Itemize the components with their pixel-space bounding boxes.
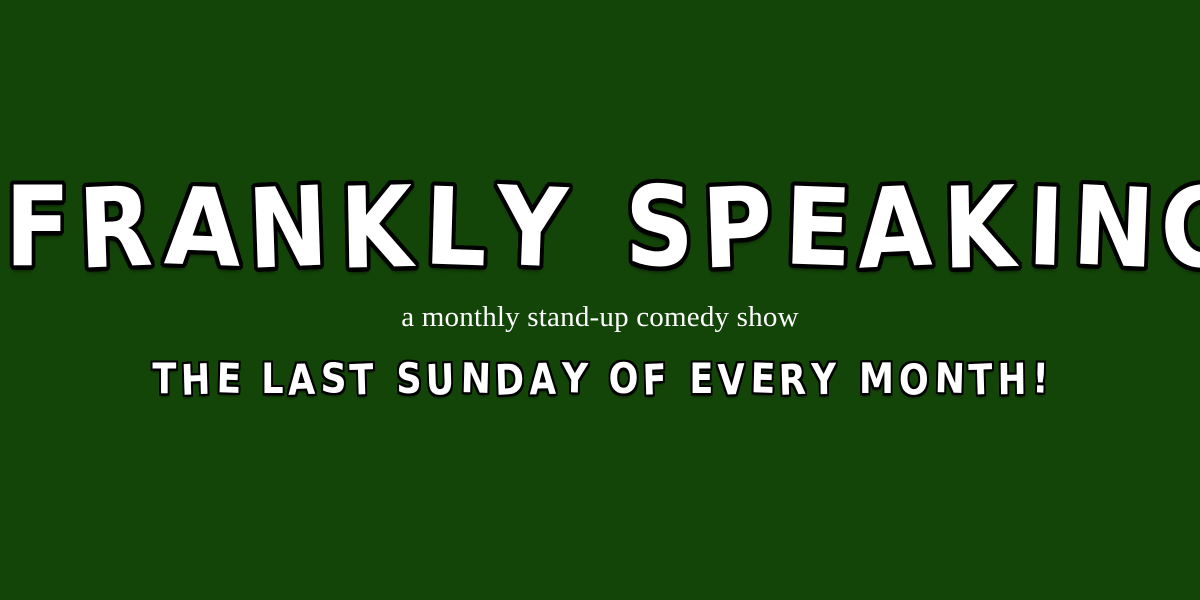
title-letter: R bbox=[77, 171, 154, 284]
tagline-letter: E bbox=[689, 356, 713, 404]
tagline-letter: A bbox=[529, 356, 556, 405]
tagline-letter: Y bbox=[811, 356, 837, 405]
tagline-word-4: OF bbox=[606, 360, 670, 404]
tagline-letter: A bbox=[287, 357, 316, 406]
title-letter: I bbox=[1026, 173, 1066, 281]
tagline-letter: T bbox=[153, 356, 177, 404]
tagline-letter: Y bbox=[561, 356, 588, 403]
title-word-2: SPEAKING bbox=[620, 178, 1200, 282]
tagline-letter: D bbox=[494, 357, 525, 406]
title-letter: Y bbox=[494, 171, 569, 283]
tagline-letter: N bbox=[460, 356, 491, 403]
tagline-letter: H bbox=[180, 357, 211, 406]
title-letter: K bbox=[943, 171, 1017, 285]
title-letter: A bbox=[856, 171, 934, 284]
title-letter: G bbox=[1159, 171, 1200, 285]
title-letter: N bbox=[1070, 171, 1156, 284]
tagline-letter: O bbox=[898, 357, 929, 406]
tagline-letter: ! bbox=[1031, 357, 1049, 404]
tagline-word-2: LAST bbox=[259, 360, 377, 404]
title-word-1: FRANKLY bbox=[0, 178, 569, 282]
tagline-letter: L bbox=[262, 356, 284, 404]
tagline-letter: S bbox=[396, 356, 421, 404]
tagline-letter: O bbox=[609, 356, 639, 404]
tagline: THELASTSUNDAYOFEVERYMONTH! bbox=[0, 360, 1200, 404]
tagline-letter: H bbox=[997, 356, 1026, 405]
subtitle: a monthly stand-up comedy show bbox=[0, 300, 1200, 334]
title-letter: E bbox=[783, 173, 854, 282]
tagline-word-5: EVERY bbox=[687, 360, 839, 404]
tagline-word-1: THE bbox=[150, 360, 242, 404]
tagline-letter: T bbox=[349, 357, 374, 405]
tagline-word-3: SUNDAY bbox=[394, 360, 589, 404]
tagline-letter: F bbox=[642, 357, 667, 405]
tagline-letter: E bbox=[750, 356, 776, 403]
title-letter: N bbox=[246, 171, 330, 285]
tagline-letter: M bbox=[859, 356, 894, 404]
tagline-letter: N bbox=[934, 356, 965, 403]
tagline-letter: R bbox=[778, 357, 806, 406]
tagline-letter: S bbox=[320, 356, 347, 403]
title-letter: L bbox=[423, 173, 489, 282]
tagline-letter: T bbox=[968, 357, 993, 405]
tagline-letter: U bbox=[425, 357, 455, 406]
title-letter: P bbox=[700, 171, 774, 284]
title-letter: A bbox=[163, 173, 243, 283]
tagline-letter: V bbox=[717, 357, 746, 406]
tagline-letter: E bbox=[216, 356, 242, 403]
page-title: FRANKLY SPEAKING bbox=[0, 178, 1200, 282]
title-letter: K bbox=[339, 171, 413, 285]
tagline-word-6: MONTH! bbox=[856, 360, 1050, 404]
event-banner: FRANKLY SPEAKING a monthly stand-up come… bbox=[0, 0, 1200, 600]
title-letter: S bbox=[625, 172, 694, 282]
title-letter: F bbox=[5, 172, 70, 282]
